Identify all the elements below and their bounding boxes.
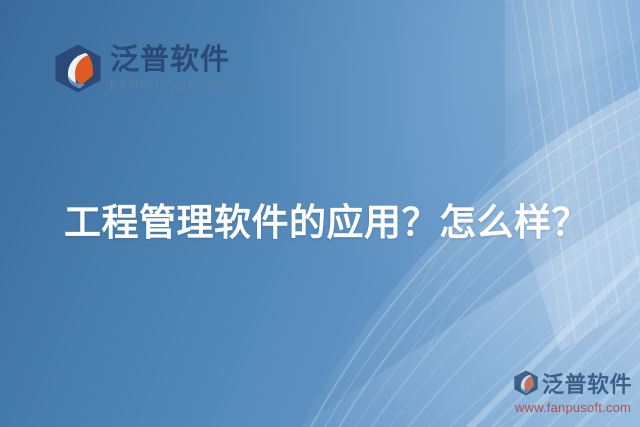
page-title: 工程管理软件的应用？怎么样？ [64, 192, 589, 246]
watermark-url: www.fanpusoft.com [515, 400, 631, 415]
brand-wordmark: 泛普软件 FANPU SOFTWARE [110, 45, 253, 93]
brand-logo[interactable]: 泛普软件 FANPU SOFTWARE [55, 44, 253, 93]
brand-name-en: FANPU SOFTWARE [110, 81, 253, 93]
watermark: 泛普软件 www.fanpusoft.com [514, 367, 632, 415]
fanpu-hexagon-logo-icon [514, 370, 538, 396]
tower-group [505, 0, 640, 372]
watermark-brand-name: 泛普软件 [542, 367, 632, 399]
watermark-logo-row: 泛普软件 [514, 367, 632, 399]
promotional-banner: 泛普软件 FANPU SOFTWARE 工程管理软件的应用？怎么样？ 泛普软件 … [0, 0, 640, 427]
brand-name-cn: 泛普软件 [110, 45, 253, 74]
fanpu-hexagon-logo-icon [55, 44, 101, 93]
